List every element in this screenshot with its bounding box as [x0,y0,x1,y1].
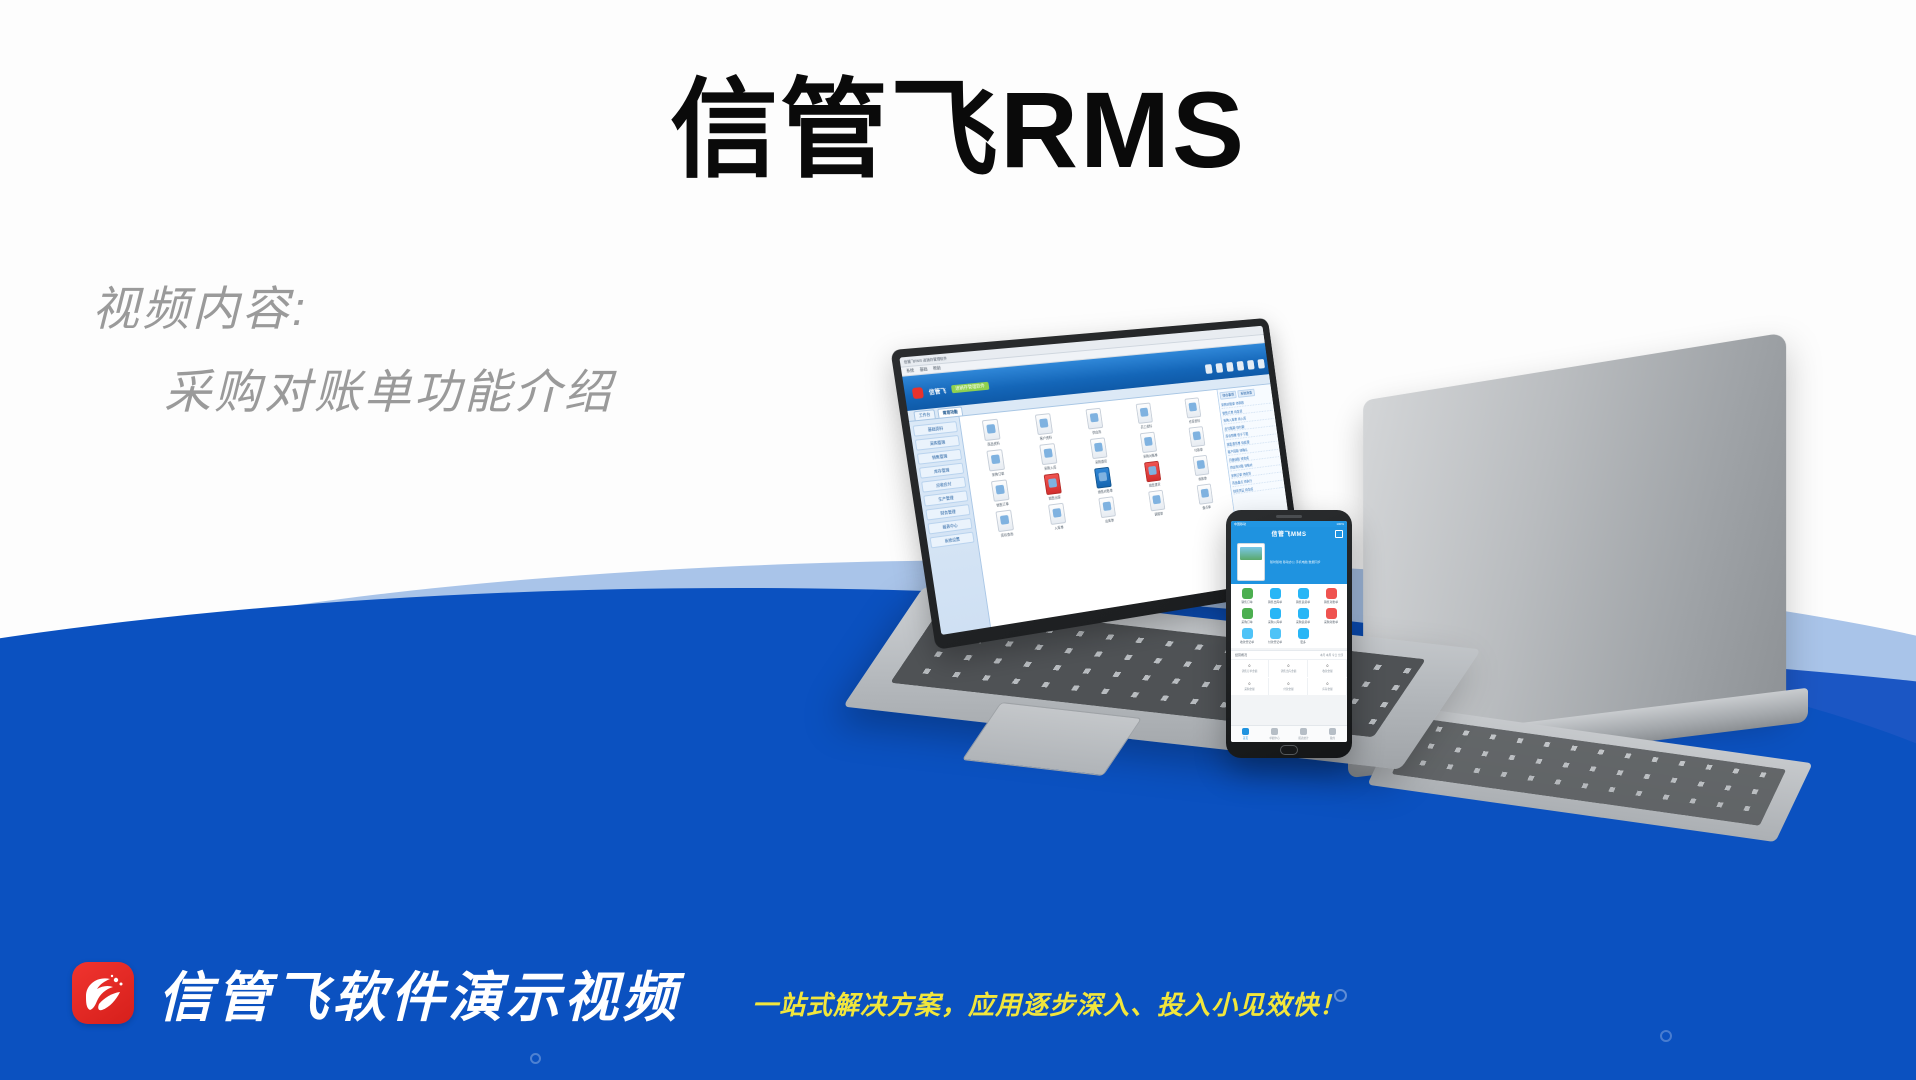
xinguanfei-logo-icon [72,962,134,1024]
app-icon-grid[interactable]: 商品资料客户资料供应商员工资料仓库资料采购订单采购入库采购退货采购对账单付款单销… [959,390,1244,627]
phone-grid-item-icon [1242,608,1253,619]
hero-device-image [1237,543,1265,581]
app-grid-icon[interactable]: 客户资料 [1017,411,1071,444]
phone-section-header: 经营概况 本月 本周 今日 全部 [1231,650,1347,659]
phone-grid-item-icon [1242,588,1253,599]
phone-grid-item-label: 采购订单 [1241,620,1252,624]
app-grid-icon[interactable]: 采购入库 [1022,441,1076,474]
phone-stat-label: 收款金额 [1322,669,1332,673]
hero-text: 随时随地 移动办公 手机电脑 数据同步 [1270,560,1321,565]
app-brand-badge: 进销存管理软件 [951,382,989,393]
subtitle-label: 视频内容: [92,285,614,332]
phone-grid-item-icon [1270,628,1281,639]
brand-row: 信管飞软件演示视频 [72,953,680,1032]
app-grid-icon[interactable]: 付款单 [1172,424,1221,455]
phone-grid-item-label: 采购对账单 [1324,620,1338,624]
app-grid-icon[interactable]: 销售出库 [1026,471,1080,504]
toolbar-icon-edit[interactable] [1215,363,1223,373]
phone-stat-value: 0 [1327,664,1329,668]
phone-screen: 中国移动 100% 信管飞MMS 随时随地 移动办公 手机电脑 数据同步 销售订… [1231,521,1347,742]
phone-nav-item[interactable]: 我的 [1318,726,1347,742]
app-menu-item[interactable]: 系统 [906,368,915,375]
app-grid-icon[interactable]: 供应商 [1069,406,1121,438]
app-grid-icon-label: 采购入库 [1044,464,1057,470]
phone-grid-item-icon [1242,628,1253,639]
phone-grid-item-label: 销售订单 [1241,600,1252,604]
app-grid-icon-glyph [1044,473,1062,495]
app-sidebar-item[interactable]: 销售管理 [917,449,962,465]
app-grid-icon-label: 销售退货 [1149,482,1161,488]
app-grid-icon-glyph [1196,484,1213,505]
phone-grid-item-label: 销售对账单 [1324,600,1338,604]
app-grid-icon-glyph [1188,426,1205,447]
phone-nav-item-label: 我的 [1330,736,1335,740]
slide-root: 信管飞RMS 视频内容: 采购对账单功能介绍 信管飞RMS 进销存管理软件 系统… [0,0,1916,1080]
phone-grid-item-icon [1326,608,1337,619]
app-grid-icon-label: 付款单 [1194,447,1203,453]
phone-grid-item-label: 销售出库单 [1268,600,1282,604]
page-title: 信管飞RMS [0,68,1916,192]
device-cluster: 信管飞RMS 进销存管理软件 系统基础帮助 信管飞 进销存管理软件 [880,380,1916,940]
phone-app-header: 信管飞MMS [1231,527,1347,540]
app-grid-icon-glyph [1136,402,1153,423]
phone-grid-item-icon [1298,608,1309,619]
app-grid-icon-label: 采购订单 [991,471,1004,477]
app-grid-icon-glyph [1090,437,1108,459]
app-grid-icon-glyph [996,510,1015,533]
app-grid-icon-glyph [1148,490,1165,512]
app-grid-icon-label: 调拨单 [1154,511,1163,517]
phone-grid-item-label: 销售退货单 [1296,600,1310,604]
app-grid-icon-label: 收款单 [1198,476,1207,482]
app-grid-icon[interactable]: 销售对账单 [1078,465,1130,498]
app-grid-icon-label: 采购退货 [1095,458,1107,464]
phone-home-button[interactable] [1280,745,1298,755]
phone-stat-value: 0 [1288,682,1290,686]
app-grid-icon-label: 销售出库 [1048,494,1061,500]
phone-grid-item[interactable]: 销售退货单 [1289,588,1317,604]
app-grid-icon[interactable]: 调拨单 [1132,488,1183,521]
phone-grid-item[interactable]: 更多 [1289,628,1317,644]
phone-grid-item-label: 付款登记单 [1268,640,1282,644]
app-grid-icon-glyph [1048,503,1066,525]
phone-grid-item[interactable]: 采购订单 [1233,608,1261,624]
phone-stat-value: 0 [1249,664,1251,668]
phone-grid-item[interactable]: 收款登记单 [1233,628,1261,644]
phone-carrier: 中国移动 [1234,522,1246,526]
app-grid-icon-label: 入库单 [1054,524,1064,530]
smartphone: 中国移动 100% 信管飞MMS 随时随地 移动办公 手机电脑 数据同步 销售订… [1226,510,1352,758]
app-grid-icon-label: 库存查询 [1000,531,1013,538]
phone-grid-item[interactable]: 付款登记单 [1261,628,1289,644]
app-menu-item[interactable]: 帮助 [933,365,941,372]
app-grid-icon-label: 员工资料 [1140,423,1152,429]
phone-nav-item-icon [1242,728,1249,735]
phone-stat-cell: 0付款金额 [1270,678,1308,695]
phone-stat-cell: 0库存金额 [1309,678,1347,695]
app-grid-icon-glyph [1184,397,1201,418]
phone-grid-item[interactable]: 采购入库单 [1261,608,1289,624]
app-grid-icon[interactable]: 库存查询 [978,507,1033,541]
app-grid-icon-label: 仓库资料 [1189,418,1201,424]
app-grid-icon-label: 采购对账单 [1143,452,1158,458]
toolbar-icon-print[interactable] [1247,360,1255,370]
banner-tagline: 一站式解决方案，应用逐步深入、投入小见效快！ [752,985,1346,1022]
decorative-circle-icon [1334,989,1347,1002]
app-sidebar-item[interactable]: 采购管理 [915,435,960,451]
app-grid-icon-glyph [1140,432,1157,453]
phone-nav-item-icon [1300,728,1307,735]
app-grid-icon-label: 销售订单 [996,501,1009,507]
right-panel-tab[interactable]: 系统消息 [1238,389,1255,398]
app-grid-icon[interactable]: 销售订单 [973,477,1028,511]
phone-hero-banner: 随时随地 移动办公 手机电脑 数据同步 [1231,540,1347,584]
section-title: 经营概况 [1235,653,1247,657]
app-grid-icon-glyph [1099,496,1117,518]
app-grid-icon-glyph [1039,443,1057,465]
phone-stat-cell: 0销售订单金额 [1231,660,1269,677]
app-grid-icon[interactable]: 出库单 [1082,494,1134,527]
phone-nav-item[interactable]: 单据中心 [1260,726,1289,742]
phone-bottom-nav[interactable]: 首页单据中心报表统计我的 [1231,725,1347,742]
app-grid-icon[interactable]: 收款单 [1176,453,1225,485]
phone-nav-item-label: 首页 [1243,736,1248,740]
phone-grid-item[interactable]: 采购退货单 [1289,608,1317,624]
phone-nav-item-label: 单据中心 [1269,736,1279,740]
toolbar-icon-export[interactable] [1257,359,1265,369]
app-grid-icon-label: 销售对账单 [1098,488,1113,495]
app-grid-icon-label: 客户资料 [1039,435,1052,441]
app-grid-icon[interactable]: 采购退货 [1073,435,1125,467]
phone-stat-cell: 0采购金额 [1231,678,1269,695]
app-grid-icon-label: 出库单 [1105,517,1114,523]
phone-grid-item-icon [1270,608,1281,619]
app-grid-icon-glyph [1086,408,1104,430]
subtitle-block: 视频内容: 采购对账单功能介绍 [92,285,614,415]
toolbar-icon-audit[interactable] [1237,361,1245,371]
app-grid-icon-glyph [1035,413,1053,435]
phone-stat-label: 销售出库金额 [1281,669,1297,673]
app-grid-icon-glyph [982,419,1001,441]
app-grid-icon-glyph [987,449,1006,471]
decorative-circle-icon [530,1053,541,1064]
phone-app-title: 信管飞MMS [1272,529,1307,538]
toolbar-icon-delete[interactable] [1226,362,1234,372]
phone-stat-label: 库存金额 [1322,687,1332,691]
phone-speaker [1276,515,1302,518]
app-menu-item[interactable]: 基础 [919,366,928,373]
phone-grid-item[interactable]: 采购对账单 [1317,608,1345,624]
phone-grid-item-icon [1298,628,1309,639]
phone-nav-item[interactable]: 首页 [1231,726,1260,742]
phone-grid-item-icon [1326,588,1337,599]
app-grid-icon[interactable]: 采购订单 [969,447,1024,480]
section-filters[interactable]: 本月 本周 今日 全部 [1320,653,1343,657]
app-grid-icon[interactable]: 销售退货 [1128,459,1179,491]
app-grid-icon-label: 供应商 [1092,429,1102,435]
phone-grid-item-label: 采购退货单 [1296,620,1310,624]
phone-nav-item-icon [1329,728,1336,735]
app-grid-icon-label: 盘点单 [1202,504,1211,510]
subtitle-topic: 采购对账单功能介绍 [92,368,614,415]
app-brand-text: 信管飞 [928,385,946,396]
app-grid-icon-glyph [991,479,1010,501]
phone-grid-item-icon [1270,588,1281,599]
phone-stat-value: 0 [1327,682,1329,686]
phone-stat-label: 采购金额 [1244,687,1254,691]
phone-nav-item-label: 报表统计 [1298,736,1308,740]
phone-grid-item[interactable]: 销售订单 [1233,588,1261,604]
brand-name-text: 信管飞软件演示视频 [158,953,680,1032]
phone-grid-item[interactable]: 销售对账单 [1317,588,1345,604]
decorative-circle-icon [1660,1030,1672,1042]
phone-battery: 100% [1336,522,1344,526]
app-grid-icon[interactable]: 采购对账单 [1123,430,1174,462]
app-grid-icon[interactable]: 商品资料 [964,417,1019,450]
app-grid-icon-label: 商品资料 [987,440,1000,446]
right-panel-tab[interactable]: 待办事项 [1219,391,1237,400]
bottom-banner: 信管飞软件演示视频 一站式解决方案，应用逐步深入、投入小见效快！ [0,930,1916,1080]
phone-grid-item-label: 采购入库单 [1268,620,1282,624]
phone-nav-item[interactable]: 报表统计 [1289,726,1318,742]
phone-grid-item-label: 更多 [1300,640,1306,644]
phone-stat-cell: 0销售出库金额 [1270,660,1308,677]
phone-stat-cell: 0收款金额 [1309,660,1347,677]
phone-stat-value: 0 [1288,664,1290,668]
app-logo-icon [912,387,924,399]
phone-stat-label: 付款金额 [1283,687,1293,691]
phone-grid-item-label: 收款登记单 [1240,640,1254,644]
app-grid-icon-glyph [1192,455,1209,476]
app-grid-icon[interactable]: 仓库资料 [1168,396,1218,427]
app-sidebar-item[interactable]: 系统设置 [930,532,975,549]
phone-stat-value: 0 [1249,682,1251,686]
phone-stats-grid: 0销售订单金额0销售出库金额0收款金额0采购金额0付款金额0库存金额 [1231,659,1347,695]
app-grid-icon[interactable]: 员工资料 [1119,401,1170,433]
phone-grid-item[interactable]: 销售出库单 [1261,588,1289,604]
phone-nav-item-icon [1271,728,1278,735]
front-laptop: 信管飞RMS 进销存管理软件 系统基础帮助 信管飞 进销存管理软件 [880,350,1520,910]
app-grid-icon-glyph [1095,467,1113,489]
app-grid-icon[interactable]: 入库单 [1031,501,1084,535]
app-sidebar-item[interactable]: 基础资料 [913,421,958,437]
app-grid-icon[interactable]: 盘点单 [1180,481,1229,513]
app-grid-icon-glyph [1144,461,1161,483]
phone-function-grid[interactable]: 销售订单销售出库单销售退货单销售对账单采购订单采购入库单采购退货单采购对账单收款… [1231,584,1347,648]
toolbar-icon-add[interactable] [1205,364,1213,374]
phone-stat-label: 销售订单金额 [1242,669,1258,673]
hamburger-menu-icon[interactable] [1335,530,1343,538]
phone-grid-item-icon [1298,588,1309,599]
